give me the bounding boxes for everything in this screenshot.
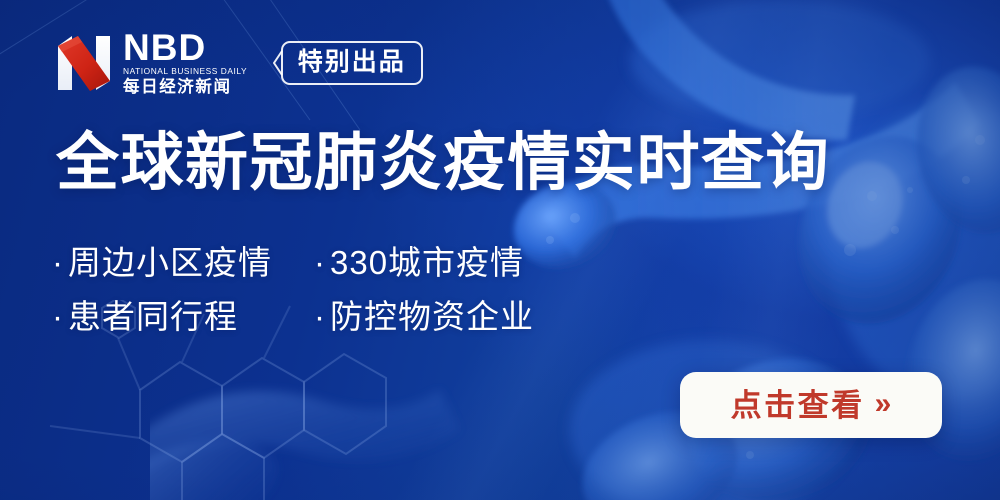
nbd-chinese-name: 每日经济新闻 bbox=[123, 78, 245, 97]
covid-promo-banner: NBD NATIONAL BUSINESS DAILY 每日经济新闻 特别出品 … bbox=[0, 0, 1000, 500]
nbd-logo[interactable]: NBD NATIONAL BUSINESS DAILY 每日经济新闻 bbox=[56, 30, 245, 97]
nbd-wordmark-text: NBD bbox=[123, 30, 245, 66]
feature-item-label: 防控物资企业 bbox=[330, 298, 534, 335]
bullet-dot-icon: · bbox=[52, 298, 64, 335]
feature-item[interactable]: ·防控物资企业 bbox=[314, 297, 534, 337]
page-title: 全球新冠肺炎疫情实时查询 bbox=[56, 129, 830, 197]
feature-item-label: 患者同行程 bbox=[68, 298, 238, 335]
click-to-view-button-label: 点击查看 bbox=[731, 390, 865, 421]
feature-item[interactable]: ·330城市疫情 bbox=[314, 243, 524, 283]
special-production-badge-label: 特别出品 bbox=[281, 41, 423, 85]
double-chevron-right-icon: » bbox=[875, 389, 892, 419]
nbd-english-name: NATIONAL BUSINESS DAILY bbox=[123, 67, 247, 77]
click-to-view-button[interactable]: 点击查看 » bbox=[680, 372, 942, 438]
brand-header: NBD NATIONAL BUSINESS DAILY 每日经济新闻 特别出品 bbox=[56, 30, 423, 97]
bullet-dot-icon: · bbox=[314, 298, 326, 335]
feature-item-label: 周边小区疫情 bbox=[68, 244, 272, 281]
bullet-dot-icon: · bbox=[52, 244, 64, 281]
bullet-dot-icon: · bbox=[314, 244, 326, 281]
nbd-wordmark: NBD NATIONAL BUSINESS DAILY 每日经济新闻 bbox=[123, 30, 245, 97]
nbd-n-monogram-icon bbox=[56, 34, 112, 92]
feature-item[interactable]: ·患者同行程 bbox=[52, 297, 314, 337]
feature-list: ·周边小区疫情 ·330城市疫情 ·患者同行程 ·防控物资企业 bbox=[52, 243, 534, 352]
special-production-badge: 特别出品 bbox=[273, 41, 423, 85]
feature-row: ·周边小区疫情 ·330城市疫情 bbox=[52, 243, 534, 283]
feature-row: ·患者同行程 ·防控物资企业 bbox=[52, 297, 534, 337]
feature-item[interactable]: ·周边小区疫情 bbox=[52, 243, 314, 283]
feature-item-label: 330城市疫情 bbox=[330, 244, 524, 281]
